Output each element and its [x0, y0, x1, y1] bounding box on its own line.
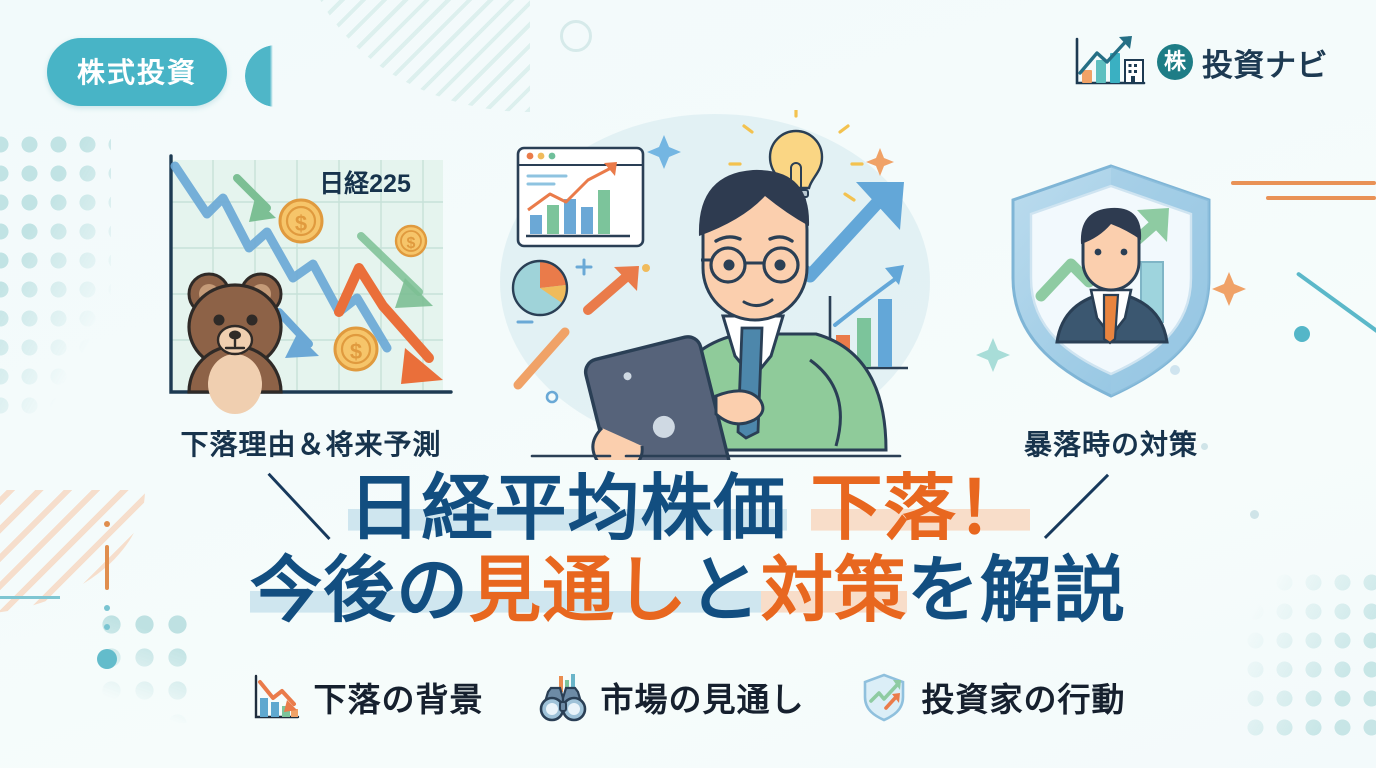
headline-seg-kongo: 今後の	[250, 555, 469, 627]
bear-icon	[189, 274, 281, 414]
headline: ＼ 日経平均株価 下落！ ／ 今後の 見通し と 対策 を解説	[0, 466, 1376, 634]
headline-seg-mitoshi: 見通し	[469, 555, 688, 627]
headline-seg-kaisetsu: を解説	[907, 555, 1126, 627]
diagonal-stripes-decoration-top	[300, 0, 530, 112]
shield-arrow-icon	[859, 672, 909, 722]
site-logo[interactable]: 株 投資ナビ	[1074, 33, 1328, 91]
footer-item-toushika-koudou[interactable]: 投資家の行動	[859, 672, 1126, 722]
chart-index-label: 日経225	[319, 169, 411, 198]
illustration-row: $ $ $	[0, 110, 1376, 460]
headline-seg-geraku: 下落！	[811, 473, 1030, 545]
headline-line-1: ＼ 日経平均株価 下落！ ／	[0, 466, 1376, 552]
teal-circle-decoration-top	[245, 45, 307, 107]
declining-chart-bear-illustration: $ $ $	[143, 152, 479, 414]
category-badge[interactable]: 株式投資	[47, 38, 227, 106]
headline-line-2: 今後の 見通し と 対策 を解説	[0, 548, 1376, 634]
svg-text:$: $	[407, 235, 416, 252]
logo-text: 投資ナビ	[1202, 40, 1328, 85]
headline-seg-nikkei: 日経平均株価	[348, 473, 786, 545]
svg-text:$: $	[350, 339, 362, 364]
kabu-circle-icon: 株	[1157, 44, 1193, 80]
footer-topic-list: 下落の背景 市場の見通し	[0, 672, 1376, 722]
shield-investor-illustration	[965, 152, 1257, 414]
footer-item-label: 投資家の行動	[922, 673, 1126, 721]
panel-caption-right: 暴落時の対策	[965, 423, 1257, 463]
bar-chart-arrow-building-icon	[1074, 33, 1148, 91]
poster-canvas: 株式投資 株 投資ナビ	[0, 0, 1376, 768]
slash-right-icon: ／	[1042, 474, 1112, 544]
declining-bar-chart-icon	[251, 672, 301, 722]
illustration-panel-left: $ $ $	[143, 152, 479, 463]
illustration-panel-center	[480, 110, 940, 465]
teal-circle-decoration	[97, 649, 117, 669]
illustration-panel-right: 暴落時の対策	[965, 152, 1257, 463]
investor-analysis-illustration	[480, 110, 940, 460]
footer-item-label: 下落の背景	[314, 673, 484, 721]
footer-item-label: 市場の見通し	[601, 673, 805, 721]
panel-caption-left: 下落理由＆将来予測	[143, 423, 479, 463]
footer-item-shijou-mitooshi[interactable]: 市場の見通し	[538, 672, 805, 722]
slash-left-icon: ＼	[263, 473, 335, 545]
headline-seg-taisaku: 対策	[761, 555, 907, 627]
svg-text:$: $	[295, 211, 307, 236]
circle-outline-decoration	[560, 20, 592, 52]
binoculars-icon	[538, 672, 588, 722]
headline-seg-to: と	[688, 555, 761, 627]
footer-item-geraku-haikei[interactable]: 下落の背景	[251, 672, 484, 722]
